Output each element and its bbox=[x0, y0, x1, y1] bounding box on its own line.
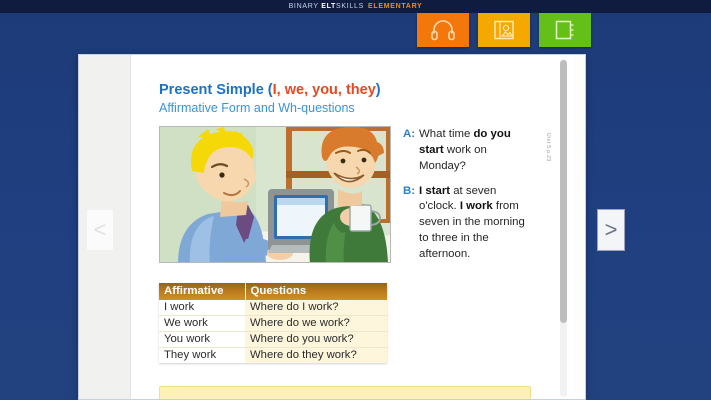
page-canvas: Unit 5 p.23 Present Simple (I, we, you, … bbox=[79, 55, 573, 400]
cell-affirmative: We work bbox=[159, 316, 245, 332]
elearning-viewer: BINARY ELTSKILLSELEMENTARY bbox=[0, 0, 711, 400]
lesson-illustration bbox=[159, 126, 391, 263]
page-marker-label: Unit 5 p.23 bbox=[545, 133, 551, 162]
dialogue-text-a: What time do you start work on Monday? bbox=[419, 127, 534, 174]
notebook-icon bbox=[553, 19, 577, 41]
chevron-right-icon: > bbox=[605, 219, 618, 241]
brand-level: ELEMENTARY bbox=[368, 3, 422, 10]
page-scrollbar[interactable] bbox=[560, 59, 567, 397]
cell-question: Where do you work? bbox=[245, 332, 387, 348]
table-row: They work Where do they work? bbox=[159, 348, 387, 364]
grammar-table: Affirmative Questions I work Where do I … bbox=[159, 283, 387, 363]
tool-button-group bbox=[417, 13, 591, 47]
title-pronouns: I, we, you, they bbox=[273, 82, 376, 98]
top-brand-bar: BINARY ELTSKILLSELEMENTARY bbox=[0, 0, 711, 13]
dlg-b-part2: I work bbox=[460, 200, 493, 212]
cell-affirmative: They work bbox=[159, 348, 245, 364]
dialogue-speaker-b: B: bbox=[403, 184, 415, 263]
scrollbar-thumb[interactable] bbox=[560, 60, 567, 323]
column-header-questions: Questions bbox=[245, 283, 387, 300]
dialogue-line-b: B: I start at seven o'clock. I work from… bbox=[403, 184, 534, 263]
brand-elt: ELT bbox=[321, 3, 336, 10]
cell-affirmative: You work bbox=[159, 332, 245, 348]
column-header-affirmative: Affirmative bbox=[159, 283, 245, 300]
notebook-button[interactable] bbox=[539, 13, 591, 47]
brand-title: BINARY ELTSKILLSELEMENTARY bbox=[289, 3, 423, 10]
dialogue-speaker-a: A: bbox=[403, 127, 415, 174]
audio-button[interactable] bbox=[417, 13, 469, 47]
dlg-a-part0: What time bbox=[419, 128, 473, 140]
dlg-b-part0: I start bbox=[419, 185, 450, 197]
previous-page-button[interactable]: < bbox=[86, 209, 114, 251]
cell-question: Where do we work? bbox=[245, 316, 387, 332]
title-close-paren: ) bbox=[376, 82, 381, 98]
table-row: I work Where do I work? bbox=[159, 300, 387, 316]
title-main-text: Present Simple bbox=[159, 82, 268, 98]
chevron-left-icon: < bbox=[94, 219, 107, 241]
table-header-row: Affirmative Questions bbox=[159, 283, 387, 300]
exercise-panel bbox=[159, 386, 531, 400]
dialogue-block: A: What time do you start work on Monday… bbox=[403, 126, 534, 271]
page-title: Present Simple (I, we, you, they) bbox=[159, 81, 534, 99]
lesson-content: Present Simple (I, we, you, they) Affirm… bbox=[159, 81, 534, 363]
dialogue-text-b: I start at seven o'clock. I work from se… bbox=[419, 184, 534, 263]
office-scene-image bbox=[160, 127, 391, 263]
headphones-icon bbox=[430, 19, 456, 41]
brand-prefix: BINARY bbox=[289, 3, 322, 10]
book-page-sheet: Unit 5 p.23 Present Simple (I, we, you, … bbox=[78, 54, 586, 400]
cell-question: Where do I work? bbox=[245, 300, 387, 316]
lesson-top-row: A: What time do you start work on Monday… bbox=[159, 126, 534, 271]
next-page-button[interactable]: > bbox=[597, 209, 625, 251]
cell-question: Where do they work? bbox=[245, 348, 387, 364]
table-row: We work Where do we work? bbox=[159, 316, 387, 332]
table-row: You work Where do you work? bbox=[159, 332, 387, 348]
cell-affirmative: I work bbox=[159, 300, 245, 316]
dialogue-line-a: A: What time do you start work on Monday… bbox=[403, 127, 534, 174]
brand-skills: SKILLS bbox=[336, 3, 364, 10]
page-subtitle: Affirmative Form and Wh-questions bbox=[159, 100, 534, 116]
picture-dictionary-button[interactable] bbox=[478, 13, 530, 47]
image-document-icon bbox=[492, 19, 516, 41]
